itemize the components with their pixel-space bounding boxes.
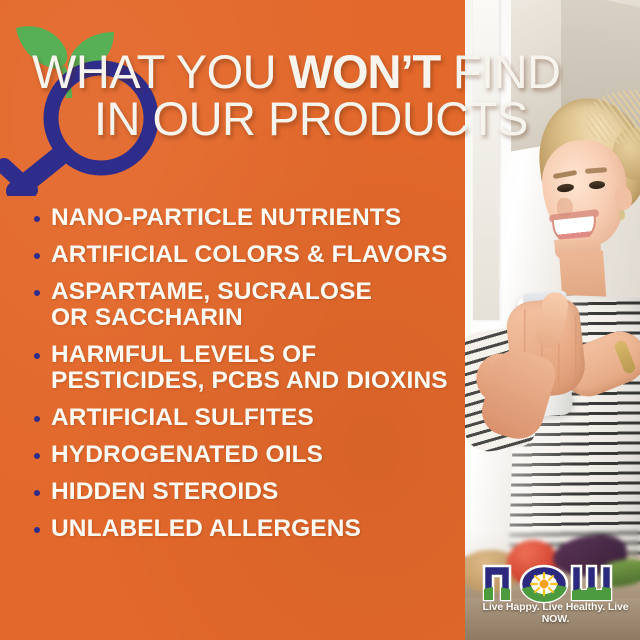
photo-woman-earring [619,210,625,220]
list-item-label: HIDDEN STEROIDS [51,479,278,505]
list-item-label: HARMFUL LEVELS OF PESTICIDES, PCBS AND D… [51,342,448,394]
list-item-line1: NANO-PARTICLE NUTRIENTS [51,204,401,231]
bullet-dot-icon [34,490,40,496]
bullet-dot-icon [34,416,40,422]
sunburst-icon [531,573,557,595]
headline-line1-emphasis: WON’T [289,45,441,98]
list-item-line1: ASPARTAME, SUCRALOSE [51,278,372,305]
list-item-line1: HIDDEN STEROIDS [51,478,278,505]
list-item-label: ARTIFICIAL SULFITES [51,405,314,431]
list-item-label: NANO-PARTICLE NUTRIENTS [51,205,401,231]
list-item-label: HYDROGENATED OILS [51,442,323,468]
list-item-label: UNLABELED ALLERGENS [51,516,361,542]
list-item-line2: PESTICIDES, PCBS AND DIOXINS [51,368,448,394]
bullet-dot-icon [34,453,40,459]
list-item-label: ASPARTAME, SUCRALOSE OR SACCHARIN [51,279,372,331]
bullet-dot-icon [34,253,40,259]
list-item-line1: UNLABELED ALLERGENS [51,515,361,542]
list-item: HIDDEN STEROIDS [34,479,454,505]
promotional-poster: WHAT YOU WON’T FIND IN OUR PRODUCTS NANO… [0,0,640,640]
list-item-line1: HARMFUL LEVELS OF [51,341,316,368]
bullet-dot-icon [34,290,40,296]
bullet-dot-icon [34,353,40,359]
list-item: ASPARTAME, SUCRALOSE OR SACCHARIN [34,279,454,331]
list-item: ARTIFICIAL COLORS & FLAVORS [34,242,454,268]
logo-letter-o [518,566,570,606]
list-item-line1: HYDROGENATED OILS [51,441,323,468]
page-title: WHAT YOU WON’T FIND IN OUR PRODUCTS [32,50,632,141]
excluded-ingredients-list: NANO-PARTICLE NUTRIENTS ARTIFICIAL COLOR… [34,205,454,553]
logo-letter-n [478,566,512,604]
list-item: ARTIFICIAL SULFITES [34,405,454,431]
bullet-dot-icon [34,216,40,222]
list-item: HARMFUL LEVELS OF PESTICIDES, PCBS AND D… [34,342,454,394]
bullet-dot-icon [34,527,40,533]
logo-tagline: Live Happy. Live Healthy. Live NOW. [478,601,633,625]
list-item-label: ARTIFICIAL COLORS & FLAVORS [51,242,448,268]
list-item: UNLABELED ALLERGENS [34,516,454,542]
list-item: HYDROGENATED OILS [34,442,454,468]
list-item-line1: ARTIFICIAL COLORS & FLAVORS [51,241,448,268]
logo-letter-w [568,566,620,604]
list-item: NANO-PARTICLE NUTRIENTS [34,205,454,231]
headline-line1-suffix: FIND [440,45,560,98]
headline-line2: IN OUR PRODUCTS [32,97,632,141]
list-item-line1: ARTIFICIAL SULFITES [51,404,314,431]
headline-line1-prefix: WHAT YOU [32,45,289,98]
list-item-line2: OR SACCHARIN [51,305,372,331]
